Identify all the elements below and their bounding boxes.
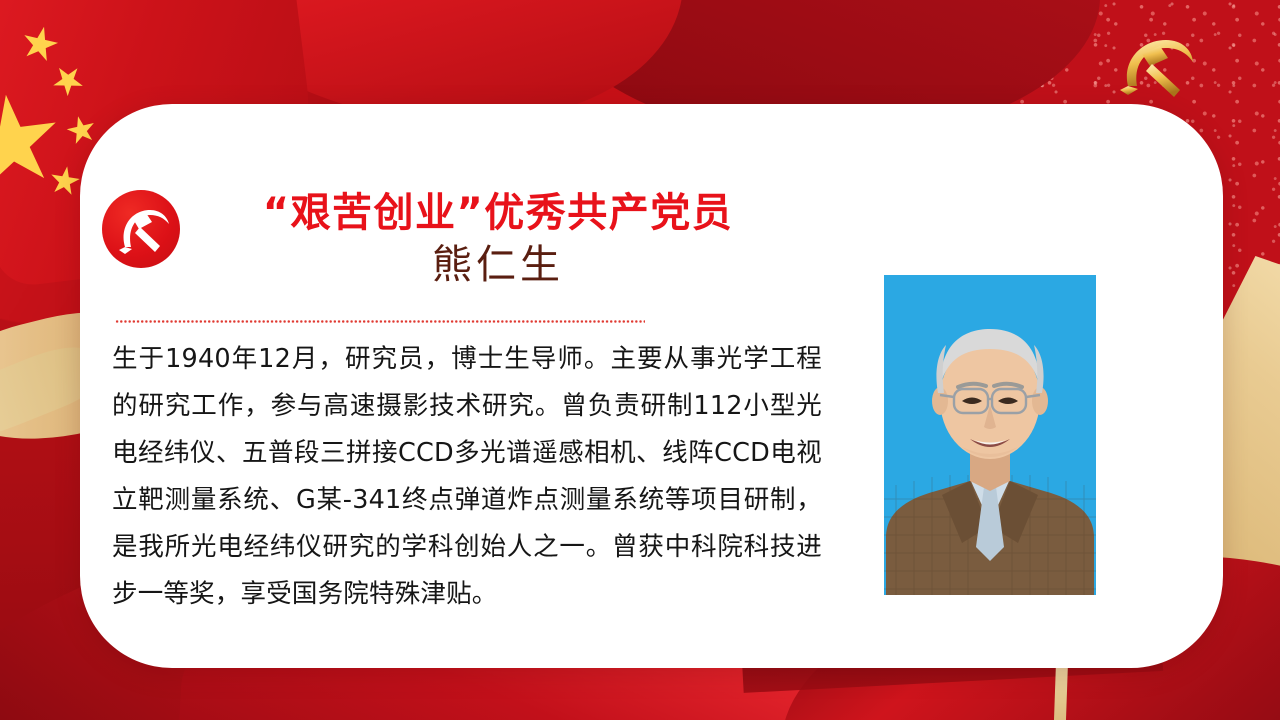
party-badge-icon [102, 190, 180, 268]
gold-stripe-bottom [1054, 660, 1068, 720]
flag-star-large [0, 89, 65, 196]
flag-star-small-1 [18, 23, 61, 66]
content-card: “艰苦创业”优秀共产党员 熊仁生 生于1940年12月，研究员，博士生导师。主要… [80, 104, 1223, 668]
flag-star-small-2 [46, 59, 89, 102]
flag-star-small-4 [48, 164, 82, 198]
biography-text: 生于1940年12月，研究员，博士生导师。主要从事光学工程的研究工作，参与高速摄… [112, 336, 822, 618]
person-name: 熊仁生 [198, 238, 798, 292]
flag-star-small-3 [64, 113, 99, 148]
party-hammer-sickle-emblem [1108, 28, 1204, 104]
title-block: “艰苦创业”优秀共产党员 熊仁生 [198, 190, 798, 292]
page-title: “艰苦创业”优秀共产党员 [198, 190, 798, 236]
dotted-divider [115, 320, 645, 323]
slide-root: “艰苦创业”优秀共产党员 熊仁生 生于1940年12月，研究员，博士生导师。主要… [0, 0, 1280, 720]
portrait-photo [884, 275, 1096, 595]
